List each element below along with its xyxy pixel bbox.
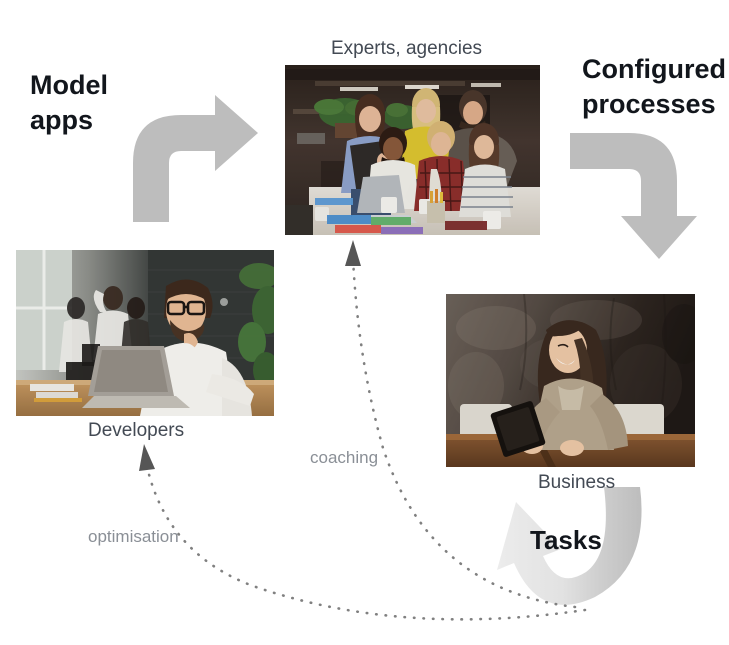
caption-business: Business (538, 472, 615, 494)
label-optimisation: optimisation (88, 527, 179, 547)
label-coaching: coaching (310, 448, 378, 468)
label-model-apps: Model apps (30, 68, 108, 138)
coaching-arrowhead (345, 240, 361, 266)
configured-processes-arrow (570, 133, 697, 259)
diagram-canvas: Model apps Configured processes Experts,… (0, 0, 729, 645)
caption-developers: Developers (88, 420, 184, 442)
label-configured-processes: Configured processes (582, 52, 726, 122)
label-tasks: Tasks (530, 525, 602, 556)
model-apps-arrow (133, 95, 258, 222)
optimisation-arrowhead (139, 444, 155, 471)
caption-experts-agencies: Experts, agencies (331, 38, 482, 60)
